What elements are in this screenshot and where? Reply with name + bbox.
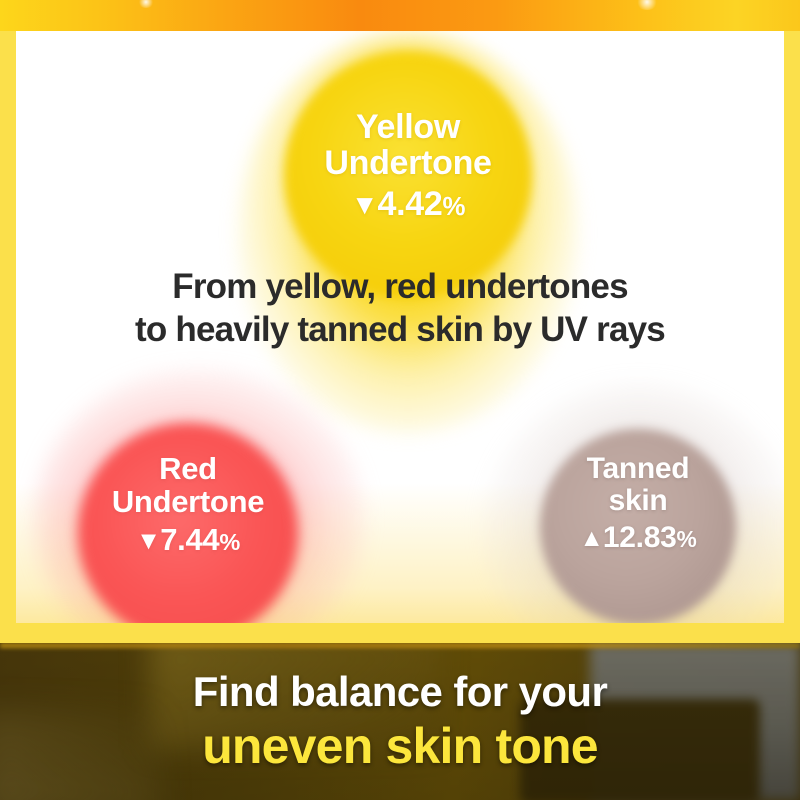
sparkle-icon <box>636 0 658 10</box>
yellow-undertone-name: Yellow Undertone <box>264 109 552 181</box>
sparkle-icon <box>138 0 154 8</box>
banner-line-2: uneven skin tone <box>202 719 598 773</box>
percent-sign: % <box>219 529 240 555</box>
tanned-skin-label: Tanned skin ▲12.83% <box>532 453 744 553</box>
content-card: Yellow Undertone ▼4.42% Red Undertone ▼7… <box>16 31 784 623</box>
yellow-undertone-label: Yellow Undertone ▼4.42% <box>264 109 552 222</box>
red-undertone-label: Red Undertone ▼7.44% <box>68 453 308 557</box>
triangle-down-icon: ▼ <box>136 527 160 555</box>
tanned-skin-name: Tanned skin <box>532 453 744 517</box>
banner-line-1: Find balance for your <box>193 670 607 714</box>
triangle-up-icon: ▲ <box>580 525 603 552</box>
percent-sign: % <box>442 193 465 221</box>
red-undertone-name: Red Undertone <box>68 453 308 519</box>
bottom-banner: Find balance for your uneven skin tone <box>0 643 800 800</box>
top-gradient-strip <box>0 0 800 31</box>
promo-poster: Yellow Undertone ▼4.42% Red Undertone ▼7… <box>0 0 800 800</box>
yellow-undertone-stat: ▼4.42% <box>264 186 552 222</box>
red-undertone-value: 7.44 <box>160 522 219 557</box>
percent-sign: % <box>676 526 696 552</box>
tanned-skin-stat: ▲12.83% <box>532 522 744 554</box>
triangle-down-icon: ▼ <box>351 189 378 220</box>
red-undertone-stat: ▼7.44% <box>68 524 308 557</box>
yellow-undertone-value: 4.42 <box>377 185 442 223</box>
center-headline: From yellow, red undertones to heavily t… <box>16 265 784 352</box>
banner-copy: Find balance for your uneven skin tone <box>0 643 800 800</box>
tanned-skin-value: 12.83 <box>603 521 677 554</box>
